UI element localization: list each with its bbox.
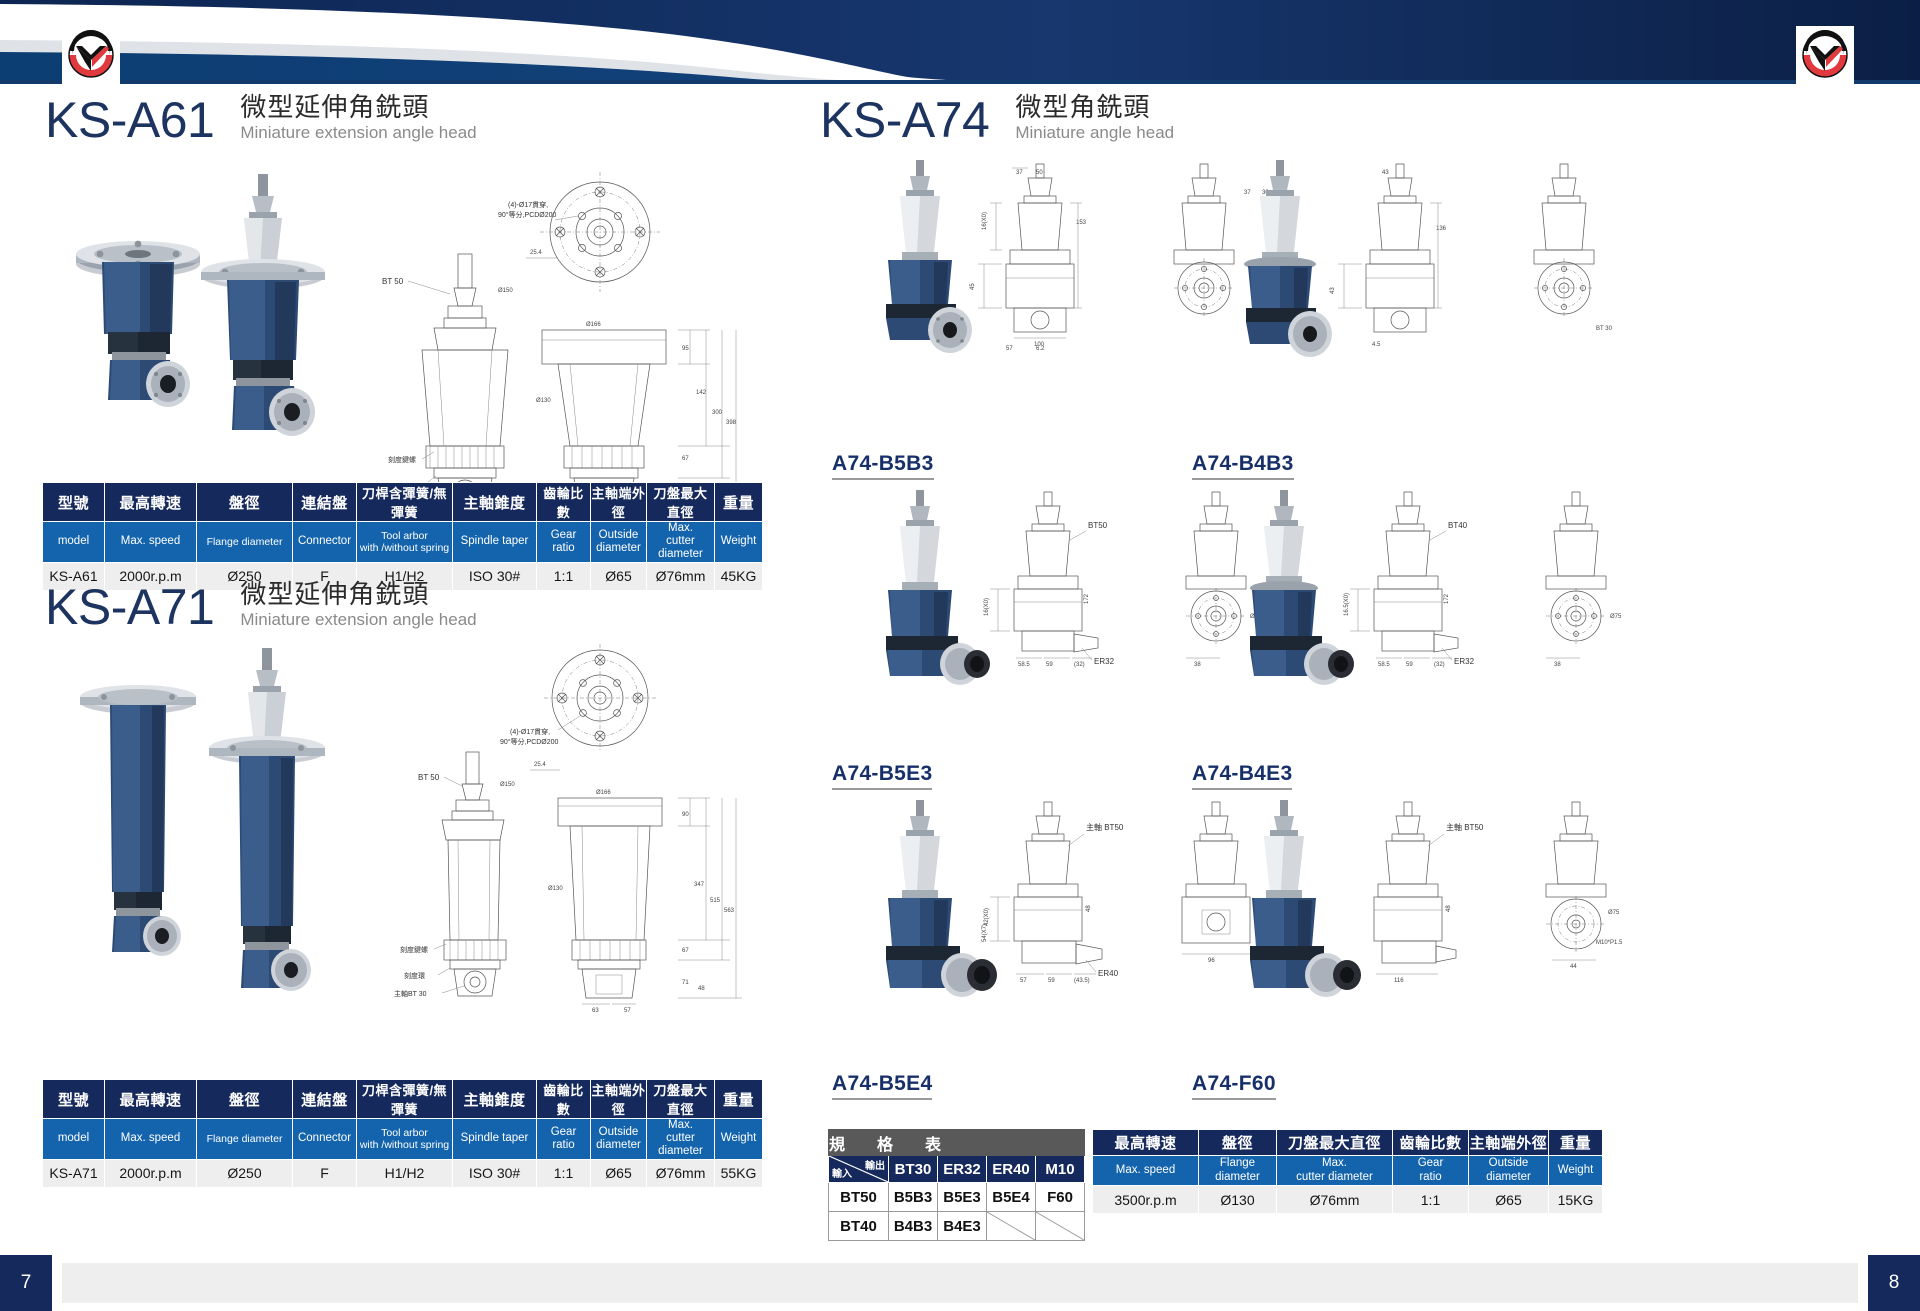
product-heading-ks-a74: KS-A74 微型角銑頭 Miniature angle head <box>820 92 1174 145</box>
right-page: KS-A74 微型角銑頭 Miniature angle head <box>800 84 1920 1255</box>
variant-block-a74-f60: 主軸 BT50 116 48 Ø75 M10*P1.5 4 <box>1190 794 1710 1084</box>
bolt-note-line2: 90°等分,PCDØ200 <box>498 210 557 219</box>
drawing-top-view-a61: (4)-Ø17貫穿, 90°等分,PCDØ200 25.4 <box>498 172 660 292</box>
matrix-col-er32: ER32 <box>938 1156 987 1183</box>
table-header-en-row: model Max. speed Flange diameter Connect… <box>43 1119 763 1160</box>
header-en-weight: Weight <box>1549 1156 1603 1186</box>
drawing-section-a61: BT 50 Ø150 <box>382 254 513 508</box>
svg-text:67: 67 <box>682 456 689 462</box>
matrix-axis-output: 輸出 <box>865 1157 885 1172</box>
matrix-cell: B5B3 <box>889 1183 938 1212</box>
svg-text:44: 44 <box>1570 964 1577 970</box>
matrix-cell-empty <box>1036 1212 1085 1241</box>
variant-block-a74-b4e3: BT40 ER32 58.5 59 (32) 16.5(X0) 172 <box>1190 484 1710 779</box>
page-footer: 7 8 <box>0 1255 1920 1311</box>
cell-weight: 15KG <box>1549 1186 1603 1214</box>
dim-body: Ø150 <box>500 782 515 788</box>
svg-text:563: 563 <box>724 908 735 914</box>
variant-label-text: A74-B5E4 <box>832 1072 932 1100</box>
variant-label-a74-b5e3: A74-B5E3 <box>832 762 932 790</box>
header-cn-model: 型號 <box>43 483 105 522</box>
spindle-note: 主軸BT 30 <box>394 989 427 998</box>
page-banner <box>0 0 1920 84</box>
svg-text:48: 48 <box>1086 905 1092 912</box>
product-code: KS-A74 <box>820 95 989 145</box>
strikethrough-icon <box>987 1212 1035 1240</box>
svg-text:M10*P1.5: M10*P1.5 <box>1596 940 1623 946</box>
product-photo-b5e4 <box>886 800 997 997</box>
header-cn-cutter: 刀盤最大直徑 <box>1277 1130 1393 1156</box>
header-cn-flange: 盤徑 <box>197 483 293 522</box>
dim-body: Ø150 <box>498 288 513 294</box>
header-en-gear: Gear ratio <box>537 1119 591 1160</box>
cell-weight: 45KG <box>715 562 763 590</box>
kenturn-logo-icon <box>65 29 117 81</box>
svg-text:59: 59 <box>1046 662 1053 668</box>
matrix-axis-input: 輸入 <box>832 1165 852 1180</box>
spec-matrix-table: 規 格 表 輸出 輸入 BT30 ER32 ER40 M10 BT50 B5B3… <box>828 1129 1085 1241</box>
matrix-cell: B4E3 <box>938 1212 987 1241</box>
svg-text:43: 43 <box>1330 287 1336 294</box>
svg-text:136: 136 <box>1436 226 1447 232</box>
table-header-cn-row: 型號 最高轉速 盤徑 連結盤 刀桿含彈簧/無彈簧 主軸錐度 齒輪比數 主軸端外徑… <box>43 1080 763 1119</box>
svg-text:16(X0): 16(X0) <box>984 598 990 616</box>
product-heading-ks-a61: KS-A61 微型延伸角銑頭 Miniature extension angle… <box>45 92 477 145</box>
product-photo-b5e3 <box>886 490 990 685</box>
product-code: KS-A61 <box>45 95 214 145</box>
svg-text:4.5: 4.5 <box>1372 342 1381 348</box>
header-en-connector: Connector <box>293 1119 357 1160</box>
matrix-cell: B4B3 <box>889 1212 938 1241</box>
dim-outer: Ø166 <box>596 790 611 796</box>
header-en-outside: Outside diameter <box>591 1119 647 1160</box>
svg-text:Ø75: Ø75 <box>1610 614 1622 620</box>
cell-outside: Ø65 <box>1469 1186 1549 1214</box>
product-name-en: Miniature extension angle head <box>240 123 476 143</box>
header-cn-outside: 主軸端外徑 <box>591 483 647 522</box>
svg-text:37: 37 <box>1016 170 1023 176</box>
drawing-b4b3-front: BT 30 <box>1534 164 1613 332</box>
svg-text:54(X7): 54(X7) <box>982 924 988 942</box>
header-en-tool-arbor: Tool arbor with /without spring <box>357 522 453 563</box>
matrix-row-label: BT40 <box>829 1212 889 1241</box>
variant-label-text: A74-B5B3 <box>832 452 934 480</box>
svg-text:515: 515 <box>710 898 721 904</box>
drawing-b4e3-front: Ø75 38 <box>1546 492 1622 668</box>
product-photo-a71-iso <box>209 648 325 991</box>
left-page: KS-A61 微型延伸角銑頭 Miniature extension angle… <box>0 84 800 1255</box>
header-en-max-speed: Max. speed <box>105 1119 197 1160</box>
cell-outside: Ø65 <box>591 562 647 590</box>
header-en-model: model <box>43 1119 105 1160</box>
svg-text:BT 30: BT 30 <box>1596 326 1613 332</box>
header-en-cutter: Max. cutter diameter <box>647 1119 715 1160</box>
product-photo-b5b3 <box>886 160 972 353</box>
taper-label: BT 50 <box>382 277 404 286</box>
cell-cutter: Ø76mm <box>1277 1186 1393 1214</box>
dim-lower: Ø130 <box>548 886 563 892</box>
product-photo-b4e3 <box>1250 490 1354 685</box>
header-cn-max-speed: 最高轉速 <box>1093 1130 1199 1156</box>
variant-label-a74-b5b3: A74-B5B3 <box>832 452 934 480</box>
svg-text:16.5(X0): 16.5(X0) <box>1344 593 1350 616</box>
svg-text:ER32: ER32 <box>1094 657 1115 666</box>
product-name-cn: 微型角銑頭 <box>1015 92 1174 123</box>
page-number-right: 8 <box>1868 1255 1920 1311</box>
svg-text:42(X0): 42(X0) <box>984 908 990 926</box>
cell-outside: Ø65 <box>591 1159 647 1187</box>
svg-text:BT40: BT40 <box>1448 521 1468 530</box>
drawing-section-a71: BT 50 Ø150 <box>394 752 515 998</box>
matrix-cell: B5E3 <box>938 1183 987 1212</box>
product-name-cn: 微型延伸角銑頭 <box>240 579 476 610</box>
product-illustration-ks-a71: (4)-Ø17貫穿, 90°等分,PCDØ200 25.4 BT 50 Ø150 <box>30 640 770 1040</box>
header-cn-weight: 重量 <box>715 483 763 522</box>
svg-text:ER32: ER32 <box>1454 657 1475 666</box>
header-cn-tool-arbor: 刀桿含彈簧/無彈簧 <box>357 483 453 522</box>
svg-text:48: 48 <box>698 986 705 992</box>
svg-text:48: 48 <box>1446 905 1452 912</box>
header-en-flange: Flange diameter <box>197 1119 293 1160</box>
taper-label: BT 50 <box>418 773 440 782</box>
dial-ring-note2: 刻度環 <box>404 971 425 980</box>
header-en-max-speed: Max. speed <box>1093 1156 1199 1186</box>
header-cn-outside: 主軸端外徑 <box>591 1080 647 1119</box>
header-cn-taper: 主軸錐度 <box>453 1080 537 1119</box>
variant-label-text: A74-F60 <box>1192 1072 1276 1100</box>
cell-flange: Ø130 <box>1199 1186 1277 1214</box>
header-en-outside: Outside diameter <box>591 522 647 563</box>
header-en-connector: Connector <box>293 522 357 563</box>
header-en-model: model <box>43 522 105 563</box>
svg-text:43: 43 <box>1382 170 1389 176</box>
product-name-en: Miniature angle head <box>1015 123 1174 143</box>
header-cn-flange: 盤徑 <box>197 1080 293 1119</box>
drawing-top-view-a71: (4)-Ø17貫穿, 90°等分,PCDØ200 25.4 <box>500 644 656 770</box>
drawing-b5e3-side: BT50 ER32 58.5 59 (32) 16(X0) 172 <box>984 492 1115 668</box>
svg-text:67: 67 <box>682 948 689 954</box>
table-header-cn-row: 型號 最高轉速 盤徑 連結盤 刀桿含彈簧/無彈簧 主軸錐度 齒輪比數 主軸端外徑… <box>43 483 763 522</box>
cell-weight: 55KG <box>715 1159 763 1187</box>
cell-gear: 1:1 <box>1393 1186 1469 1214</box>
svg-text:38: 38 <box>1554 662 1561 668</box>
bolt-note-line2: 90°等分,PCDØ200 <box>500 737 559 746</box>
header-en-outside: Outside diameter <box>1469 1156 1549 1186</box>
svg-text:172: 172 <box>1444 593 1450 604</box>
cell-cutter: Ø76mm <box>647 562 715 590</box>
svg-text:59: 59 <box>1048 978 1055 984</box>
cell-cutter: Ø76mm <box>647 1159 715 1187</box>
svg-text:57: 57 <box>1020 978 1027 984</box>
page-number-left: 7 <box>0 1255 52 1311</box>
svg-text:63: 63 <box>592 1008 599 1014</box>
product-illustration-ks-a61: (4)-Ø17貫穿, 90°等分,PCDØ200 25.4 BT 50 Ø150 <box>30 154 770 534</box>
svg-text:6.2: 6.2 <box>1036 346 1045 352</box>
header-cn-gear: 齒輪比數 <box>537 483 591 522</box>
cell-connector: F <box>293 1159 357 1187</box>
matrix-corner-cell: 輸出 輸入 <box>829 1156 889 1183</box>
product-photo-a71-front <box>80 685 196 956</box>
dim-outer: Ø166 <box>586 322 601 328</box>
variant-label-a74-b5e4: A74-B5E4 <box>832 1072 932 1100</box>
header-cn-gear: 齒輪比數 <box>1393 1130 1469 1156</box>
svg-text:142: 142 <box>696 390 707 396</box>
cell-max-speed: 2000r.p.m <box>105 1159 197 1187</box>
dim-top: 25.4 <box>530 250 542 256</box>
spec-table-ks-a71: 型號 最高轉速 盤徑 連結盤 刀桿含彈簧/無彈簧 主軸錐度 齒輪比數 主軸端外徑… <box>42 1079 763 1188</box>
matrix-header-row: 輸出 輸入 BT30 ER32 ER40 M10 <box>829 1156 1085 1183</box>
svg-text:153: 153 <box>1076 220 1087 226</box>
header-cn-outside: 主軸端外徑 <box>1469 1130 1549 1156</box>
header-cn-connector: 連結盤 <box>293 1080 357 1119</box>
header-en-cutter: Max. cutter diameter <box>1277 1156 1393 1186</box>
header-cn-max-speed: 最高轉速 <box>105 1080 197 1119</box>
dial-ring-note1: 刻度鍵螺 <box>400 945 428 954</box>
product-photo-b4b3 <box>1244 160 1332 357</box>
svg-text:45: 45 <box>970 283 976 290</box>
bolt-note-line1: (4)-Ø17貫穿, <box>510 727 550 736</box>
header-en-flange: Flange diameter <box>1199 1156 1277 1186</box>
drawing-f60-front: Ø75 M10*P1.5 44 <box>1546 802 1623 970</box>
table-header-en-row: Max. speed Flange diameter Max. cutter d… <box>1093 1156 1603 1186</box>
matrix-col-m10: M10 <box>1036 1156 1085 1183</box>
cell-gear: 1:1 <box>537 562 591 590</box>
header-cn-cutter: 刀盤最大直徑 <box>647 1080 715 1119</box>
header-cn-flange: 盤徑 <box>1199 1130 1277 1156</box>
header-cn-weight: 重量 <box>715 1080 763 1119</box>
svg-text:BT50: BT50 <box>1088 521 1108 530</box>
footer-bar <box>62 1263 1858 1303</box>
header-en-cutter: Max. cutter diameter <box>647 522 715 563</box>
dim-lower: Ø130 <box>536 398 551 404</box>
svg-text:Ø75: Ø75 <box>1608 910 1620 916</box>
matrix-cell-empty <box>987 1212 1036 1241</box>
svg-text:主軸 BT50: 主軸 BT50 <box>1446 822 1484 832</box>
matrix-row-label: BT50 <box>829 1183 889 1212</box>
header-en-max-speed: Max. speed <box>105 522 197 563</box>
matrix-row-bt40: BT40 B4B3 B4E3 <box>829 1212 1085 1241</box>
cell-taper: ISO 30# <box>453 1159 537 1187</box>
product-code: KS-A71 <box>45 582 214 632</box>
header-en-weight: Weight <box>715 1119 763 1160</box>
table-row: KS-A71 2000r.p.m Ø250 F H1/H2 ISO 30# 1:… <box>43 1159 763 1187</box>
matrix-cell: B5E4 <box>987 1183 1036 1212</box>
svg-text:(32): (32) <box>1434 662 1445 668</box>
matrix-row-bt50: BT50 B5B3 B5E3 B5E4 F60 <box>829 1183 1085 1212</box>
svg-text:398: 398 <box>726 420 737 426</box>
cell-gear: 1:1 <box>537 1159 591 1187</box>
svg-text:(32): (32) <box>1074 662 1085 668</box>
header-cn-gear: 齒輪比數 <box>537 1080 591 1119</box>
product-name-en: Miniature extension angle head <box>240 610 476 630</box>
header-cn-tool-arbor: 刀桿含彈簧/無彈簧 <box>357 1080 453 1119</box>
svg-text:58.5: 58.5 <box>1378 662 1390 668</box>
drawing-b5b3-side: 37 50 153 100 16(X0) 45 57 <box>970 164 1087 352</box>
header-en-gear: Gear ratio <box>1393 1156 1469 1186</box>
drawing-f60-side: 主軸 BT50 116 48 <box>1374 802 1484 984</box>
header-cn-model: 型號 <box>43 1080 105 1119</box>
header-cn-max-speed: 最高轉速 <box>105 483 197 522</box>
header-cn-taper: 主軸錐度 <box>453 483 537 522</box>
svg-text:57: 57 <box>624 1008 631 1014</box>
header-en-taper: Spindle taper <box>453 522 537 563</box>
svg-text:116: 116 <box>1394 978 1404 984</box>
variant-label-text: A74-B5E3 <box>832 762 932 790</box>
svg-text:ER40: ER40 <box>1098 969 1119 978</box>
svg-text:16(X0): 16(X0) <box>982 212 988 230</box>
matrix-cell: F60 <box>1036 1183 1085 1212</box>
cell-max-speed: 3500r.p.m <box>1093 1186 1199 1214</box>
header-en-tool-arbor: Tool arbor with /without spring <box>357 1119 453 1160</box>
header-en-flange: Flange diameter <box>197 522 293 563</box>
matrix-title-row: 規 格 表 <box>829 1130 1085 1156</box>
variant-label-text: A74-B4B3 <box>1192 452 1294 480</box>
matrix-col-er40: ER40 <box>987 1156 1036 1183</box>
variant-label-text: A74-B4E3 <box>1192 762 1292 790</box>
header-en-gear: Gear ratio <box>537 522 591 563</box>
variant-label-a74-b4b3: A74-B4B3 <box>1192 452 1294 480</box>
cell-flange: Ø250 <box>197 1159 293 1187</box>
svg-text:50: 50 <box>1036 170 1043 176</box>
product-photo-a61-front <box>76 241 200 407</box>
svg-text:主軸 BT50: 主軸 BT50 <box>1086 822 1124 832</box>
svg-text:57: 57 <box>1006 346 1013 352</box>
table-header-cn-row: 最高轉速 盤徑 刀盤最大直徑 齒輪比數 主軸端外徑 重量 <box>1093 1130 1603 1156</box>
variant-block-a74-b4b3: 43 136 43 4.5 <box>1190 154 1710 454</box>
svg-text:95: 95 <box>682 346 689 352</box>
product-photo-f60 <box>1250 800 1361 997</box>
cell-tool-arbor: H1/H2 <box>357 1159 453 1187</box>
header-cn-connector: 連結盤 <box>293 483 357 522</box>
drawing-elevation-a71: Ø166 Ø130 <box>548 790 742 1014</box>
variant-label-a74-f60: A74-F60 <box>1192 1072 1276 1100</box>
spec-table-ks-a74: 最高轉速 盤徑 刀盤最大直徑 齒輪比數 主軸端外徑 重量 Max. speed … <box>1092 1129 1603 1214</box>
product-photo-a61-iso <box>201 174 325 436</box>
header-en-weight: Weight <box>715 522 763 563</box>
bolt-note-line1: (4)-Ø17貫穿, <box>508 200 548 209</box>
brand-logo-left <box>62 26 120 84</box>
product-heading-ks-a71: KS-A71 微型延伸角銑頭 Miniature extension angle… <box>45 579 477 632</box>
header-cn-weight: 重量 <box>1549 1130 1603 1156</box>
svg-text:59: 59 <box>1406 662 1413 668</box>
strikethrough-icon <box>1036 1212 1084 1240</box>
svg-text:300: 300 <box>712 410 723 416</box>
spec-table-ks-a61: 型號 最高轉速 盤徑 連結盤 刀桿含彈簧/無彈簧 主軸錐度 齒輪比數 主軸端外徑… <box>42 482 763 591</box>
table-header-en-row: model Max. speed Flange diameter Connect… <box>43 522 763 563</box>
header-en-taper: Spindle taper <box>453 1119 537 1160</box>
svg-text:71: 71 <box>682 980 689 986</box>
kenturn-logo-icon <box>1799 29 1851 81</box>
svg-text:172: 172 <box>1084 593 1090 604</box>
svg-text:90: 90 <box>682 812 689 818</box>
matrix-col-bt30: BT30 <box>889 1156 938 1183</box>
drawing-b4b3-side: 43 136 43 4.5 <box>1330 164 1447 348</box>
dim-top: 25.4 <box>534 762 546 768</box>
drawing-b4e3-side: BT40 ER32 58.5 59 (32) 16.5(X0) 172 <box>1344 492 1475 668</box>
cell-model: KS-A71 <box>43 1159 105 1187</box>
svg-text:347: 347 <box>694 882 705 888</box>
dial-ring-note1: 刻度鍵螺 <box>388 455 416 464</box>
product-name-cn: 微型延伸角銑頭 <box>240 92 476 123</box>
variant-label-a74-b4e3: A74-B4E3 <box>1192 762 1292 790</box>
header-cn-cutter: 刀盤最大直徑 <box>647 483 715 522</box>
table-row: 3500r.p.m Ø130 Ø76mm 1:1 Ø65 15KG <box>1093 1186 1603 1214</box>
svg-text:58.5: 58.5 <box>1018 662 1030 668</box>
drawing-b5e4-side: 主軸 BT50 ER40 57 59 (43.5) 42(X0) 54(X7) … <box>982 802 1124 984</box>
matrix-title: 規 格 表 <box>829 1130 1085 1156</box>
brand-logo-right <box>1796 26 1854 84</box>
svg-text:(43.5): (43.5) <box>1074 978 1090 984</box>
